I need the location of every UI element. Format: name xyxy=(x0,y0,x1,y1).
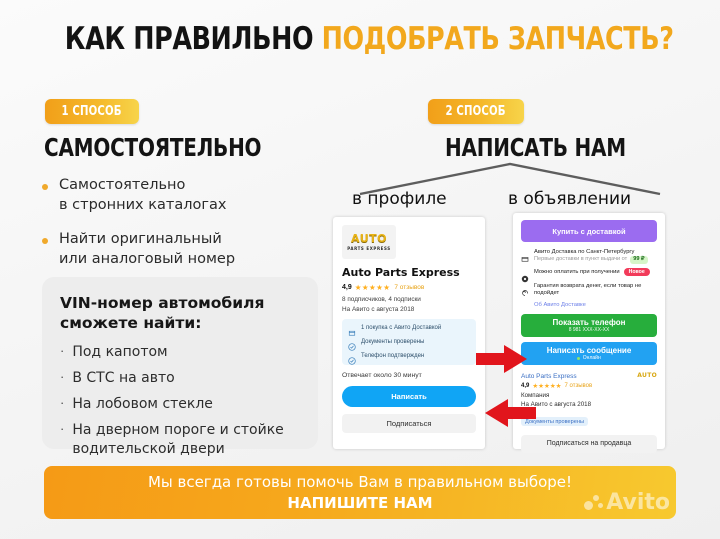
bullet-dot-icon: · xyxy=(60,395,64,412)
delivery-info-rows: Авито Доставка по Санкт-ПетербургуПервые… xyxy=(521,249,657,297)
trust-badge-label: Документы проверены xyxy=(361,339,424,345)
delivery-info-sub: Первые доставки в пункт выдачи от99 ₽ xyxy=(534,256,657,263)
avito-watermark: Avito xyxy=(584,490,670,515)
seller-type: Компания xyxy=(521,392,657,399)
vin-item-text: На лобовом стекле xyxy=(72,395,213,413)
profile-followers: 8 подписчиков, 4 подписки xyxy=(342,296,476,303)
delivery-info-line: Гарантия возврата денег, если товар не п… xyxy=(534,283,657,297)
delivery-info-row: Авито Доставка по Санкт-ПетербургуПервые… xyxy=(521,249,657,264)
subhead-profile: в профиле xyxy=(352,189,447,209)
arrow-left-icon xyxy=(484,398,536,428)
profile-rating: 4,9 ★★★★★ 7 отзывов xyxy=(342,283,476,292)
check-circle-icon xyxy=(348,338,356,346)
page-title: КАК ПРАВИЛЬНО ПОДОБРАТЬ ЗАПЧАСТЬ? xyxy=(65,22,655,56)
title-part-amber: ПОДОБРАТЬ ЗАПЧАСТЬ? xyxy=(322,21,674,57)
vin-card-list: ·Под капотом·В СТС на авто·На лобовом ст… xyxy=(60,343,300,458)
send-message-button[interactable]: Написать сообщение Онлайн xyxy=(521,342,657,365)
delivery-info-line: Можно оплатить при полученииНовое xyxy=(534,269,657,276)
bullet-dot-icon: · xyxy=(60,343,64,360)
show-phone-label: Показать телефон xyxy=(553,318,626,327)
method-2-badge: 2 СПОСОБ xyxy=(428,99,524,124)
method-1-badge: 1 СПОСОБ xyxy=(45,99,139,124)
phone-number: 8 981 XXX-XX-XX xyxy=(569,327,610,333)
bullet-text: Самостоятельнов стронних каталогах xyxy=(59,176,226,215)
online-dot-icon xyxy=(577,357,580,360)
method-1-heading: САМОСТОЯТЕЛЬНО xyxy=(44,133,261,162)
subhead-advert: в объявлении xyxy=(508,189,631,209)
footer-line-2: НАПИШИТЕ НАМ xyxy=(287,494,432,512)
title-part-black: КАК ПРАВИЛЬНО xyxy=(65,21,322,57)
subscribe-seller-button[interactable]: Подписаться на продавца xyxy=(521,435,657,453)
check-circle-icon xyxy=(348,352,356,360)
footer-banner: Мы всегда готовы помочь Вам в правильном… xyxy=(44,466,676,519)
arrow-right-icon xyxy=(476,344,528,374)
trust-badge-row: 1 покупка с Авито Доставкой xyxy=(348,324,470,332)
method-2-badge-label: 2 СПОСОБ xyxy=(446,104,506,119)
write-button[interactable]: Написать xyxy=(342,386,476,407)
vin-item-text: В СТС на авто xyxy=(72,369,174,387)
list-item: Самостоятельнов стронних каталогах xyxy=(42,176,312,215)
vin-card-title: VIN-номер автомобилясможете найти: xyxy=(60,293,300,334)
bullet-dot-icon: · xyxy=(60,421,64,438)
send-message-label: Написать сообщение xyxy=(547,346,632,355)
profile-card: AUTO PARTS EXPRESS Auto Parts Express 4,… xyxy=(333,217,485,449)
return-icon xyxy=(521,284,529,292)
bullet-dot-icon xyxy=(42,184,48,190)
profile-since: На Авито с августа 2018 xyxy=(342,306,476,313)
seller-reviews-link[interactable]: 7 отзывов xyxy=(564,383,592,389)
wallet-icon xyxy=(521,270,529,278)
list-item: ·В СТС на авто xyxy=(60,369,300,387)
method-1-badge-label: 1 СПОСОБ xyxy=(62,104,122,119)
seller-rating-value: 4,9 xyxy=(521,383,529,389)
delivery-info-row: Можно оплатить при полученииНовое xyxy=(521,269,657,278)
about-delivery-link[interactable]: Об Авито Доставке xyxy=(534,302,657,308)
online-status-label: Онлайн xyxy=(583,355,601,361)
list-item: ·На дверном пороге и стойкеводительской … xyxy=(60,421,300,457)
price-chip: 99 ₽ xyxy=(630,256,647,263)
profile-reply-time: Отвечает около 30 минут xyxy=(342,372,476,379)
logo-text-parts-express: PARTS EXPRESS xyxy=(347,246,391,251)
vin-item-text: Под капотом xyxy=(72,343,167,361)
trust-badge-row: Телефон подтвержден xyxy=(348,352,470,360)
delivery-info-text: Авито Доставка по Санкт-ПетербургуПервые… xyxy=(534,249,657,264)
profile-trust-badges: 1 покупка с Авито ДоставкойДокументы про… xyxy=(342,319,476,365)
trust-badge-row: Документы проверены xyxy=(348,338,470,346)
profile-name: Auto Parts Express xyxy=(342,266,476,279)
new-badge: Новое xyxy=(624,268,650,276)
rating-value: 4,9 xyxy=(342,284,352,291)
delivery-info-text: Гарантия возврата денег, если товар не п… xyxy=(534,283,657,297)
profile-logo: AUTO PARTS EXPRESS xyxy=(342,225,396,259)
bullet-dot-icon xyxy=(42,238,48,244)
seller-block: AUTO Auto Parts Express 4,9 ★★★★★ 7 отзы… xyxy=(521,371,657,428)
logo-text-auto: AUTO xyxy=(351,233,387,244)
footer-line-1: Мы всегда готовы помочь Вам в правильном… xyxy=(148,473,572,491)
delivery-info-text: Можно оплатить при полученииНовое xyxy=(534,269,657,276)
list-item: ·На лобовом стекле xyxy=(60,395,300,413)
bullet-text: Найти оригинальныйили аналоговый номер xyxy=(59,230,235,269)
list-item: ·Под капотом xyxy=(60,343,300,361)
delivery-icon xyxy=(348,324,356,332)
avito-wordmark: Avito xyxy=(606,490,670,515)
trust-badge-label: Телефон подтвержден xyxy=(361,353,424,359)
online-status: Онлайн xyxy=(577,355,600,361)
delivery-info-row: Гарантия возврата денег, если товар не п… xyxy=(521,283,657,297)
seller-logo: AUTO xyxy=(637,372,657,379)
subscribe-button[interactable]: Подписаться xyxy=(342,414,476,433)
method-1-bullet-list: Самостоятельнов стронних каталогах Найти… xyxy=(42,176,312,284)
bullet-dot-icon: · xyxy=(60,369,64,386)
seller-rating-stars-icon: ★★★★★ xyxy=(532,382,561,390)
poster-root: КАК ПРАВИЛЬНО ПОДОБРАТЬ ЗАПЧАСТЬ? 1 СПОС… xyxy=(0,0,720,539)
list-item: Найти оригинальныйили аналоговый номер xyxy=(42,230,312,269)
trust-badge-label: 1 покупка с Авито Доставкой xyxy=(361,325,441,331)
seller-rating: 4,9 ★★★★★ 7 отзывов xyxy=(521,382,657,390)
box-icon xyxy=(521,250,529,258)
rating-stars-icon: ★★★★★ xyxy=(355,283,391,292)
method-2-heading: НАПИСАТЬ НАМ xyxy=(445,133,613,162)
avito-dots-icon xyxy=(584,494,604,512)
seller-since: На Авито с августа 2018 xyxy=(521,401,657,408)
reviews-link[interactable]: 7 отзывов xyxy=(394,284,424,291)
vin-item-text: На дверном пороге и стойкеводительской д… xyxy=(72,421,283,457)
vin-info-card: VIN-номер автомобилясможете найти: ·Под … xyxy=(42,277,318,449)
show-phone-button[interactable]: Показать телефон 8 981 XXX-XX-XX xyxy=(521,314,657,337)
buy-with-delivery-button[interactable]: Купить с доставкой xyxy=(521,220,657,242)
